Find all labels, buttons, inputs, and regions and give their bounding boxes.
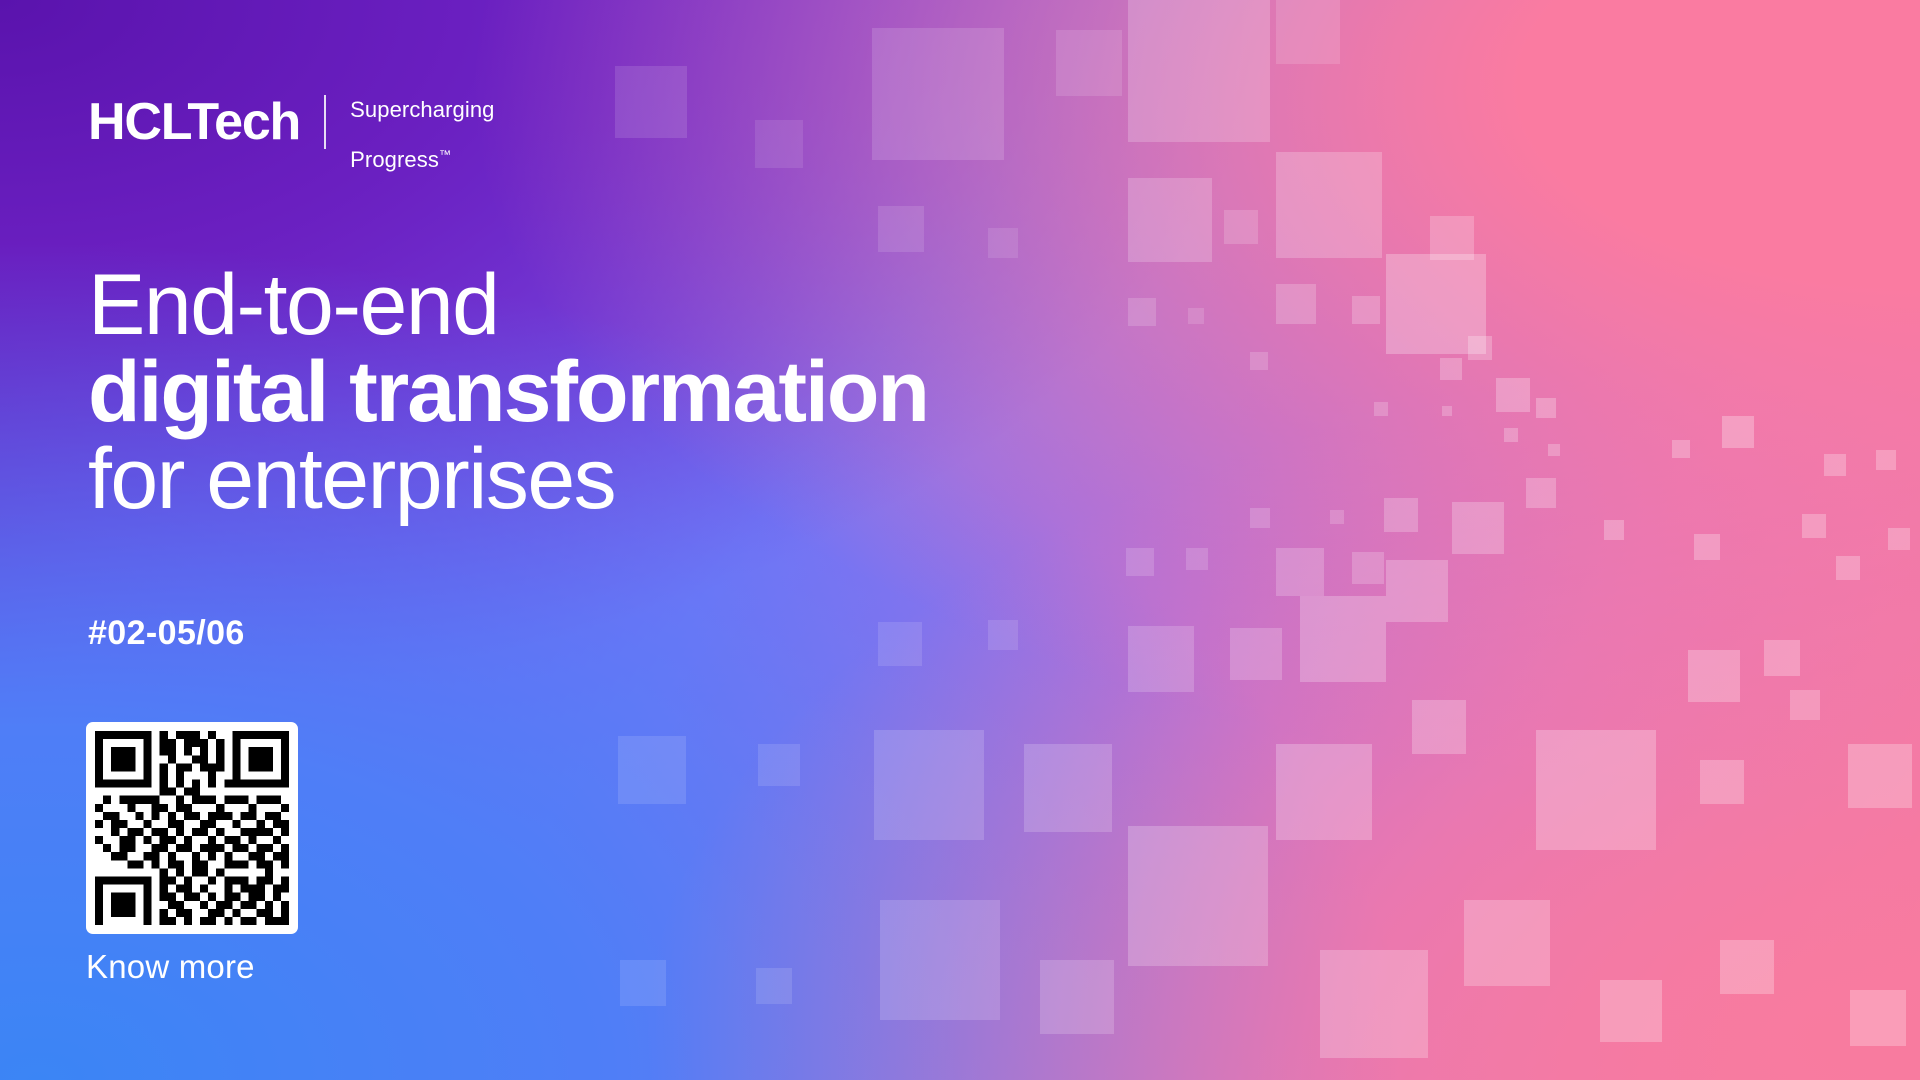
decorative-square <box>1722 416 1754 448</box>
decorative-square <box>1452 502 1504 554</box>
headline-line-1: End-to-end <box>88 262 928 349</box>
hcltech-wordmark: HCLTech <box>88 96 300 148</box>
decorative-square <box>1548 444 1560 456</box>
decorative-square <box>758 744 800 786</box>
decorative-square <box>756 968 792 1004</box>
decorative-square <box>1824 454 1846 476</box>
decorative-square <box>1440 358 1462 380</box>
decorative-square <box>1876 450 1896 470</box>
decorative-square <box>1056 30 1122 96</box>
trademark-symbol: ™ <box>439 148 451 162</box>
decorative-square <box>1850 990 1906 1046</box>
promo-banner: HCLTech Supercharging Progress™ End-to-e… <box>0 0 1920 1080</box>
decorative-square <box>1276 284 1316 324</box>
decorative-square <box>1600 980 1662 1042</box>
logo-divider <box>324 95 326 149</box>
decorative-square <box>1224 210 1258 244</box>
qr-code-icon <box>95 731 289 925</box>
decorative-square <box>1230 628 1282 680</box>
decorative-square <box>1504 428 1518 442</box>
qr-call-to-action[interactable]: Know more <box>86 722 298 986</box>
decorative-square <box>1128 178 1212 262</box>
decorative-square <box>1276 744 1372 840</box>
decorative-square <box>1536 730 1656 850</box>
decorative-square <box>872 28 1004 160</box>
booth-number: #02-05/06 <box>88 614 245 653</box>
decorative-square <box>1720 940 1774 994</box>
decorative-square <box>1250 352 1268 370</box>
decorative-square <box>1126 548 1154 576</box>
brand-tagline: Supercharging Progress™ <box>350 72 494 172</box>
decorative-square <box>1320 950 1428 1058</box>
brand-tagline-line2: Progress <box>350 147 439 172</box>
decorative-square <box>988 228 1018 258</box>
headline-line-2: digital transformation <box>88 349 928 436</box>
decorative-square <box>1694 534 1720 560</box>
decorative-square <box>1024 744 1112 832</box>
decorative-square <box>1526 478 1556 508</box>
decorative-square <box>615 66 687 138</box>
decorative-square <box>1604 520 1624 540</box>
decorative-square <box>988 620 1018 650</box>
decorative-square <box>1430 216 1474 260</box>
decorative-square <box>1496 378 1530 412</box>
decorative-square <box>1040 960 1114 1034</box>
page-title: End-to-end digital transformation for en… <box>88 262 928 523</box>
decorative-square <box>1352 296 1380 324</box>
decorative-square <box>618 736 686 804</box>
decorative-square <box>1790 690 1820 720</box>
decorative-square <box>880 900 1000 1020</box>
brand-tagline-line1: Supercharging <box>350 97 494 122</box>
decorative-square <box>1468 336 1492 360</box>
decorative-square <box>1688 650 1740 702</box>
decorative-square <box>1374 402 1388 416</box>
decorative-square <box>1128 826 1268 966</box>
decorative-square <box>1442 406 1452 416</box>
decorative-square <box>1672 440 1690 458</box>
decorative-square <box>1330 510 1344 524</box>
know-more-label: Know more <box>86 948 298 986</box>
decorative-square <box>1412 700 1466 754</box>
decorative-square <box>620 960 666 1006</box>
decorative-square <box>1300 596 1386 682</box>
decorative-square <box>874 730 984 840</box>
decorative-square <box>1276 548 1324 596</box>
decorative-square <box>1836 556 1860 580</box>
decorative-square <box>1384 498 1418 532</box>
decorative-square <box>878 206 924 252</box>
decorative-square <box>1386 560 1448 622</box>
decorative-square <box>1188 308 1204 324</box>
decorative-square <box>1700 760 1744 804</box>
decorative-square <box>1352 552 1384 584</box>
decorative-square <box>755 120 803 168</box>
decorative-square <box>1250 508 1270 528</box>
decorative-square <box>1802 514 1826 538</box>
decorative-square <box>1276 152 1382 258</box>
decorative-square <box>1276 0 1340 64</box>
decorative-square <box>1888 528 1910 550</box>
headline-line-3: for enterprises <box>88 436 928 523</box>
decorative-square <box>1128 0 1270 142</box>
decorative-square <box>1848 744 1912 808</box>
qr-code[interactable] <box>86 722 298 934</box>
decorative-square <box>1764 640 1800 676</box>
decorative-square <box>878 622 922 666</box>
decorative-square <box>1186 548 1208 570</box>
decorative-square <box>1128 298 1156 326</box>
decorative-square <box>1536 398 1556 418</box>
decorative-square <box>1128 626 1194 692</box>
brand-logo-lockup: HCLTech Supercharging Progress™ <box>88 72 495 172</box>
decorative-square <box>1464 900 1550 986</box>
